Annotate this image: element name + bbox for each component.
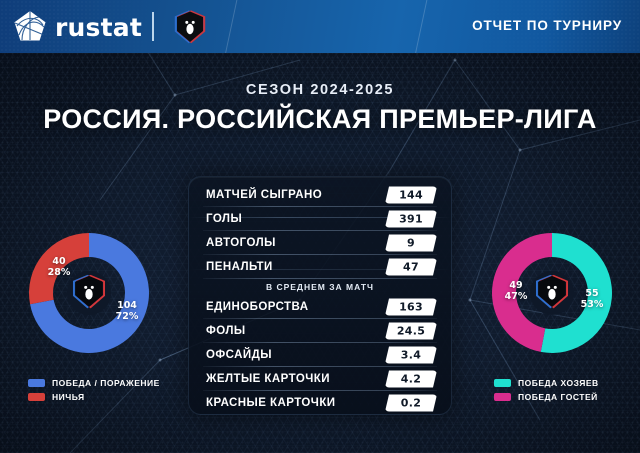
brand-wordmark[interactable]: rustat [55,13,142,42]
season-label: СЕЗОН 2024-2025 [0,82,640,98]
legend-label: ПОБЕДА ХОЗЯЕВ [518,378,599,388]
legend-label: ПОБЕДА / ПОРАЖЕНИЕ [52,378,160,388]
stat-value: 24.5 [397,325,425,338]
stat-value-pill: 3.4 [385,347,437,364]
stat-label: МАТЧЕЙ СЫГРАНО [206,189,322,201]
stat-value-pill: 9 [385,235,437,252]
averages-divider-label: В СРЕДНЕМ ЗА МАТЧ [266,282,374,292]
legend-label: НИЧЬЯ [52,392,85,402]
donut-label-winloss: 104 72% [103,301,151,322]
stat-value-pill: 163 [385,299,437,316]
legend-item[interactable]: НИЧЬЯ [28,392,160,402]
legend-item[interactable]: ПОБЕДА / ПОРАЖЕНИЕ [28,378,160,388]
stat-row: ЕДИНОБОРСТВА163 [189,295,451,319]
averages-divider: В СРЕДНЕМ ЗА МАТЧ [189,279,451,295]
stat-label: ЕДИНОБОРСТВА [206,301,308,313]
stat-row: ОФСАЙДЫ3.4 [189,343,451,367]
stats-panel: МАТЧЕЙ СЫГРАНО144ГОЛЫ391АВТОГОЛЫ9ПЕНАЛЬТ… [188,176,452,415]
stat-label: КРАСНЫЕ КАРТОЧКИ [206,397,336,409]
home-away-legend: ПОБЕДА ХОЗЯЕВПОБЕДА ГОСТЕЙ [494,378,599,406]
row-separator [203,414,437,415]
page-title: РОССИЯ. РОССИЙСКАЯ ПРЕМЬЕР-ЛИГА [0,104,640,135]
results-donut-chart[interactable]: 40 28% 104 72% [23,227,155,359]
stat-row: КРАСНЫЕ КАРТОЧКИ0.2 [189,391,451,415]
legend-item[interactable]: ПОБЕДА ХОЗЯЕВ [494,378,599,388]
donut-label-draw: 40 28% [37,257,81,278]
stat-row: ЖЕЛТЫЕ КАРТОЧКИ4.2 [189,367,451,391]
stat-value: 0.2 [401,397,421,410]
legend-swatch-icon [28,393,45,401]
stat-value: 9 [407,237,415,250]
legend-swatch-icon [494,393,511,401]
legend-swatch-icon [494,379,511,387]
stat-row: ФОЛЫ24.5 [189,319,451,343]
stat-label: ГОЛЫ [206,213,242,225]
stat-row: МАТЧЕЙ СЫГРАНО144 [189,183,451,207]
legend-label: ПОБЕДА ГОСТЕЙ [518,392,598,402]
donut-label-home-win: 55 53% [570,289,614,310]
stat-row: ГОЛЫ391 [189,207,451,231]
stats-rows: МАТЧЕЙ СЫГРАНО144ГОЛЫ391АВТОГОЛЫ9ПЕНАЛЬТ… [189,177,451,414]
stat-value: 163 [399,301,423,314]
stat-value-pill: 144 [385,187,437,204]
stat-row: ПЕНАЛЬТИ47 [189,255,451,279]
stat-label: ФОЛЫ [206,325,246,337]
stat-row: АВТОГОЛЫ9 [189,231,451,255]
rustat-pentagon-logo-icon[interactable] [13,10,47,43]
legend-item[interactable]: ПОБЕДА ГОСТЕЙ [494,392,599,402]
stat-value: 3.4 [401,349,421,362]
stat-value-pill: 4.2 [385,371,437,388]
stat-label: ЖЕЛТЫЕ КАРТОЧКИ [206,373,330,385]
report-canvas: rustat ОТЧЕТ ПО ТУРНИРУ СЕЗОН 2024-2025 … [0,0,640,453]
stat-value-pill: 47 [385,259,437,276]
stat-value: 4.2 [401,373,421,386]
stat-value-pill: 0.2 [385,395,437,412]
stat-value: 47 [403,261,419,274]
rpl-bear-crest-icon[interactable] [172,9,208,45]
stat-value-pill: 391 [385,211,437,228]
stat-value-pill: 24.5 [385,323,437,340]
donut-label-away-win: 49 47% [494,281,538,302]
stat-label: ПЕНАЛЬТИ [206,261,273,273]
legend-swatch-icon [28,379,45,387]
header-title: ОТЧЕТ ПО ТУРНИРУ [472,18,622,33]
results-legend: ПОБЕДА / ПОРАЖЕНИЕНИЧЬЯ [28,378,160,406]
stat-label: АВТОГОЛЫ [206,237,276,249]
stat-value: 391 [399,213,423,226]
stat-label: ОФСАЙДЫ [206,349,272,361]
stat-value: 144 [399,189,423,202]
vertical-divider-icon [152,12,154,41]
page-header: rustat ОТЧЕТ ПО ТУРНИРУ [0,0,640,53]
home-away-donut-chart[interactable]: 49 47% 55 53% [486,227,618,359]
